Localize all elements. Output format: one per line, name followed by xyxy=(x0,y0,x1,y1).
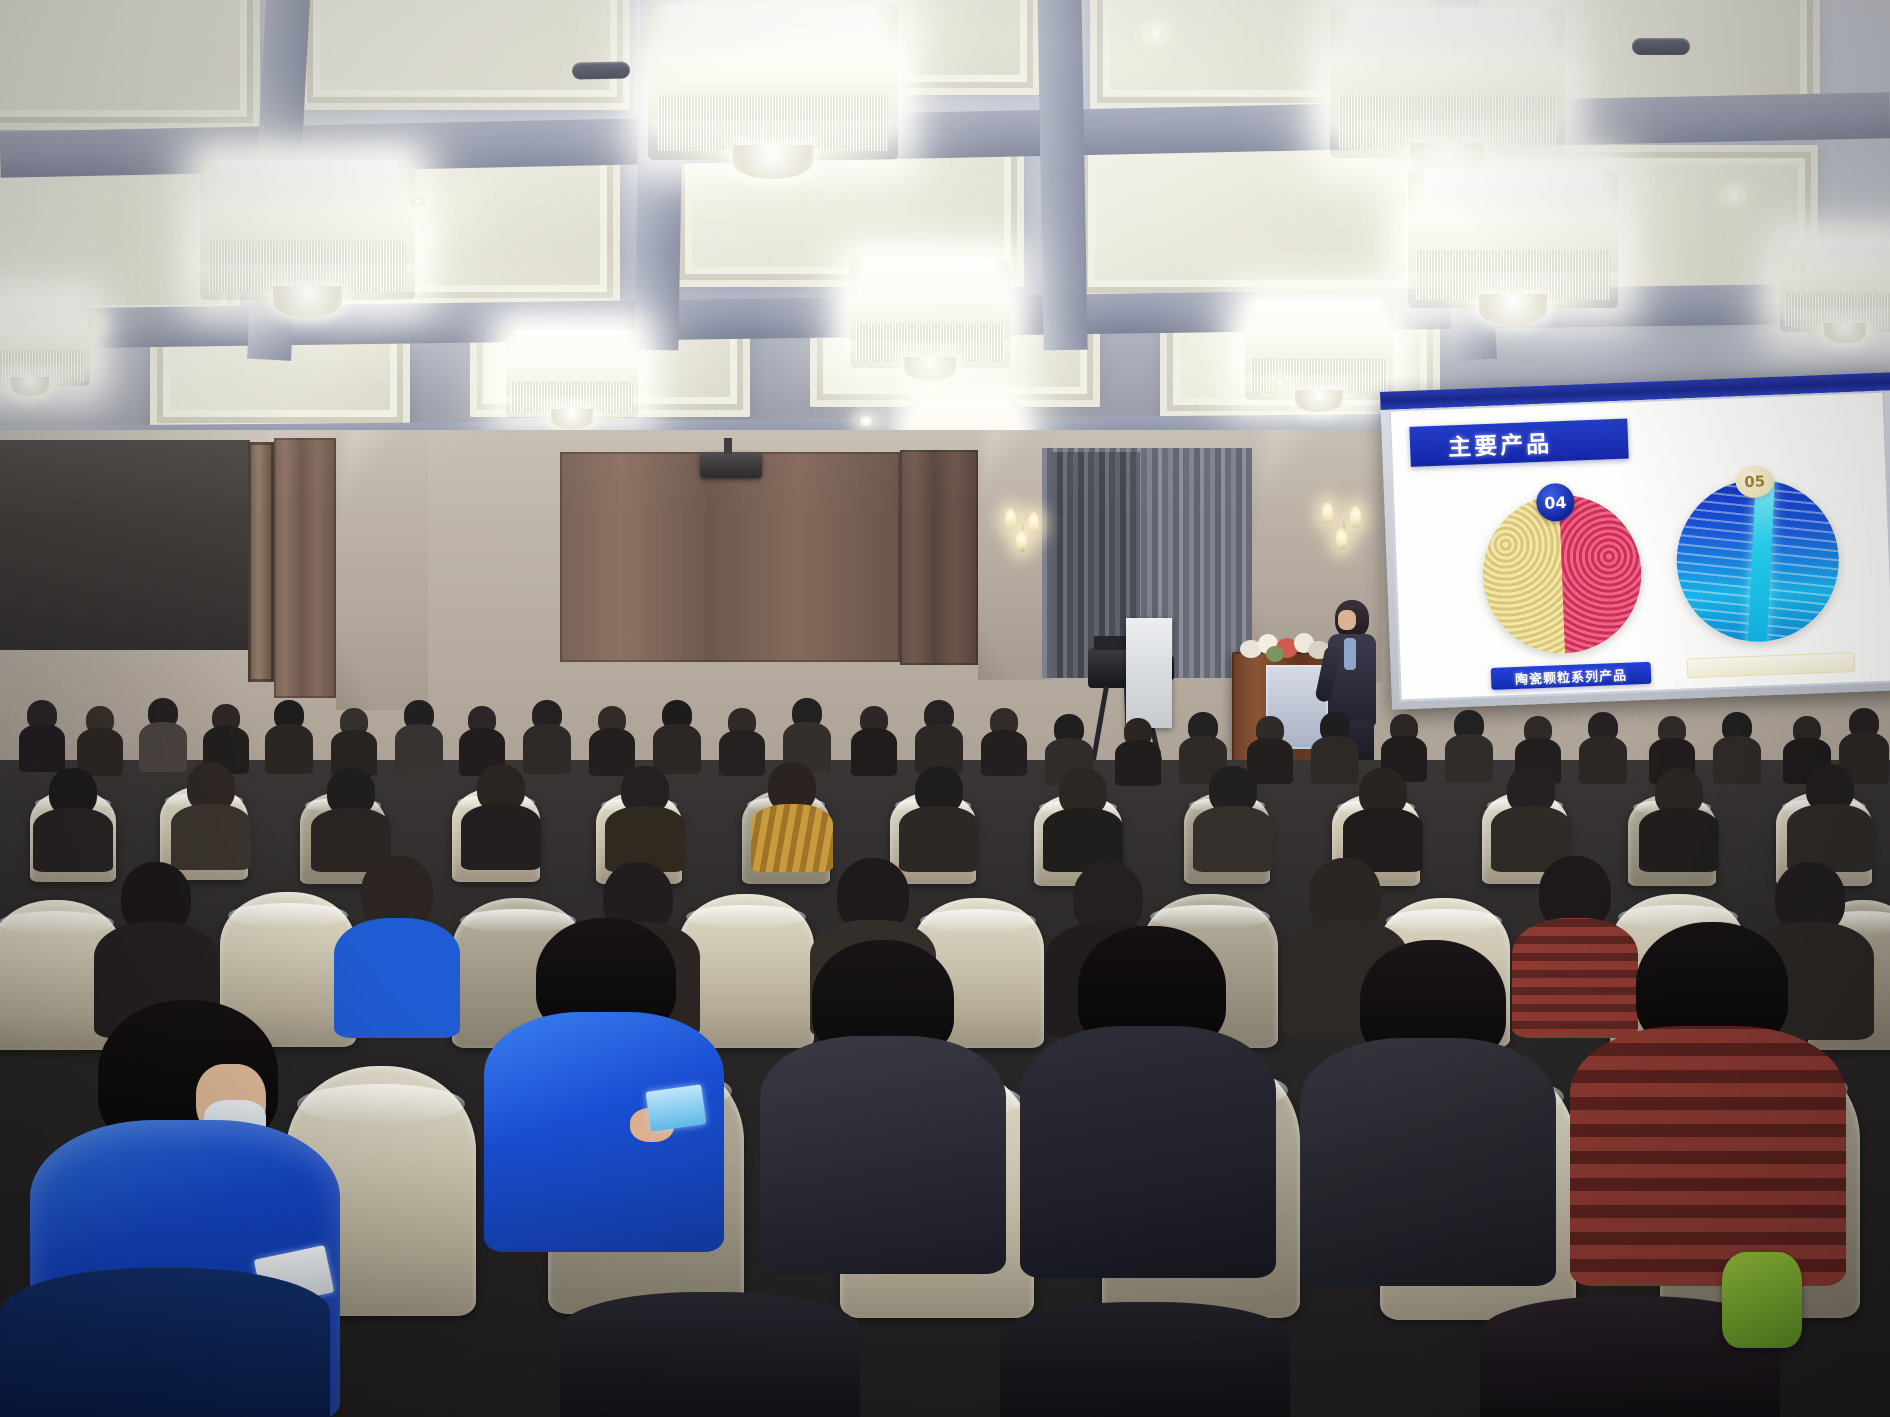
attendee xyxy=(760,940,1000,1270)
wood-pillar xyxy=(274,438,336,698)
attendee-mustard-stripes xyxy=(752,762,832,868)
attendee xyxy=(172,762,250,866)
attendee xyxy=(1492,766,1570,868)
attendee xyxy=(1020,926,1270,1272)
attendee-jacket xyxy=(760,1036,1006,1274)
attendee xyxy=(312,768,390,868)
attendee xyxy=(462,764,540,866)
attendee xyxy=(34,768,112,868)
wall-sconce xyxy=(1318,496,1370,556)
projector-mount xyxy=(724,438,732,454)
presenter-scarf xyxy=(1344,638,1356,670)
left-alcove xyxy=(0,440,250,650)
ceiling-coffer xyxy=(680,0,1040,95)
attendee xyxy=(336,856,458,1032)
ceiling-downlight xyxy=(858,416,874,426)
slide-title-bar: 主要产品 xyxy=(1409,419,1628,467)
ceiling-projector xyxy=(700,452,762,478)
attendee xyxy=(900,766,978,868)
attendee-blue-jacket-2 xyxy=(490,918,720,1248)
equipment-case xyxy=(1126,618,1172,728)
ceiling-coffer xyxy=(1090,0,1440,110)
ceiling-downlight xyxy=(1790,262,1806,272)
ceiling-downlight xyxy=(410,196,426,206)
attendee xyxy=(606,766,684,868)
ceiling-beam xyxy=(1036,0,1087,350)
fiber-disc xyxy=(1674,477,1842,645)
conference-hall-photo: 主要产品 04 陶瓷颗粒系列产品 05 xyxy=(0,0,1890,1417)
attendee xyxy=(1194,766,1272,868)
attendee xyxy=(1788,764,1872,868)
attendee xyxy=(1044,768,1122,868)
product-image-05 xyxy=(1674,477,1842,645)
attendee xyxy=(1300,940,1550,1280)
ceiling-beam xyxy=(634,0,685,350)
ceiling-coffer xyxy=(0,0,260,130)
attendee-plaid-shirt xyxy=(1570,1026,1846,1286)
wall-sconce xyxy=(1000,500,1046,556)
door-frame xyxy=(248,442,274,682)
smartphone xyxy=(645,1084,706,1131)
granule-red xyxy=(1559,492,1644,653)
attendee-foreground xyxy=(560,1292,860,1417)
presenter-face xyxy=(1338,610,1356,630)
attendee xyxy=(1640,768,1718,868)
presentation-slide: 主要产品 04 陶瓷颗粒系列产品 05 xyxy=(1389,391,1890,702)
attendee-foreground xyxy=(0,1268,330,1417)
wood-wall-panel xyxy=(560,452,900,662)
product-caption-05 xyxy=(1686,652,1855,678)
attendee xyxy=(1344,768,1422,868)
green-bag xyxy=(1722,1252,1802,1348)
product-caption-04: 陶瓷颗粒系列产品 xyxy=(1491,662,1652,690)
attendee-foreground xyxy=(1000,1302,1290,1417)
ceiling-downlight xyxy=(1272,378,1288,388)
ceiling-vent xyxy=(1632,38,1690,55)
slide-title: 主要产品 xyxy=(1409,424,1552,463)
led-screen: 主要产品 04 陶瓷颗粒系列产品 05 xyxy=(1380,372,1890,709)
attendee-jacket xyxy=(484,1012,724,1252)
attendee-jacket xyxy=(1020,1026,1276,1278)
ceiling-coffer xyxy=(300,0,630,110)
ceiling-vent xyxy=(572,61,630,79)
attendee-red-plaid-2 xyxy=(1570,922,1840,1282)
attendee-jacket xyxy=(1300,1038,1556,1286)
ceiling-downlight xyxy=(1726,190,1742,200)
marble-pillar xyxy=(336,430,428,710)
ceiling-downlight xyxy=(1148,28,1164,38)
wood-wall-panel xyxy=(900,450,978,665)
ceiling-downlight xyxy=(86,318,102,328)
ceiling-coffer xyxy=(1075,130,1425,300)
